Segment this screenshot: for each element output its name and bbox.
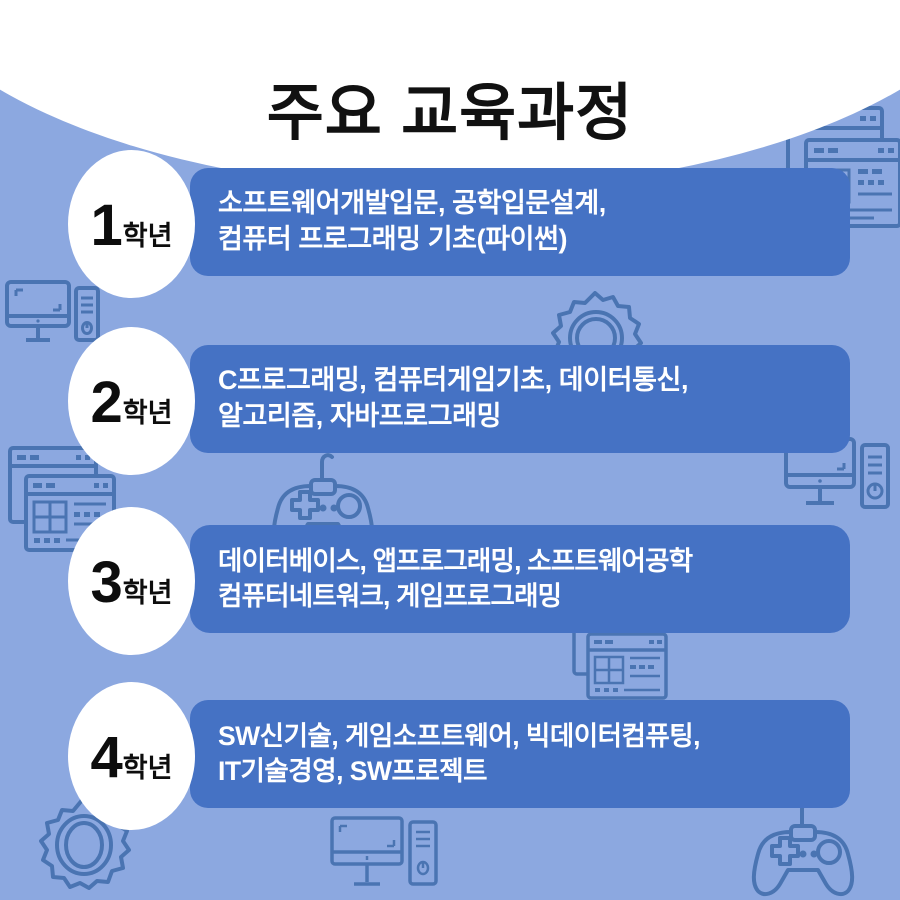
grade-badge-content: 2 학년 [91,374,173,432]
game-controller-icon [748,798,860,900]
course-bar-4[interactable]: SW신기술, 게임소프트웨어, 빅데이터컴퓨팅, IT기술경영, SW프로젝트 [190,700,850,808]
page-title: 주요 교육과정 [0,62,900,152]
course-bar-2[interactable]: C프로그래밍, 컴퓨터게임기초, 데이터통신, 알고리즘, 자바프로그래밍 [190,345,850,453]
grade-badge-1[interactable]: 1 학년 [68,150,195,298]
course-line-2: 컴퓨터 프로그래밍 기초(파이썬) [218,222,850,258]
curriculum-row: 4 학년 SW신기술, 게임소프트웨어, 빅데이터컴퓨팅, IT기술경영, SW… [0,700,900,810]
curriculum-row: 1 학년 소프트웨어개발입문, 공학입문설계, 컴퓨터 프로그래밍 기초(파이썬… [0,168,900,278]
grade-suffix: 학년 [123,755,173,782]
course-line-2: IT기술경영, SW프로젝트 [218,754,850,789]
grade-badge-content: 4 학년 [91,729,173,787]
curriculum-poster: 주요 교육과정 1 학년 소프트웨어개발입문, 공학입문설계, 컴퓨터 프로그래… [0,0,900,900]
course-line-1: SW신기술, 게임소프트웨어, 빅데이터컴퓨팅, [218,719,850,754]
grade-number: 2 [91,374,122,432]
curriculum-row: 3 학년 데이터베이스, 앱프로그래밍, 소프트웨어공학 컴퓨터네트워크, 게임… [0,525,900,635]
grade-badge-4[interactable]: 4 학년 [68,682,195,830]
grade-suffix: 학년 [123,580,173,607]
course-line-2: 알고리즘, 자바프로그래밍 [218,399,850,435]
course-line-2: 컴퓨터네트워크, 게임프로그래밍 [218,579,850,614]
grade-number: 4 [91,729,122,787]
desktop-computer-icon [328,812,444,900]
grade-suffix: 학년 [123,400,173,427]
course-line-1: C프로그래밍, 컴퓨터게임기초, 데이터통신, [218,363,850,399]
grade-badge-content: 3 학년 [91,554,173,612]
grade-badge-3[interactable]: 3 학년 [68,507,195,655]
grade-number: 3 [91,554,122,612]
grade-suffix: 학년 [123,223,173,250]
grade-badge-2[interactable]: 2 학년 [68,327,195,475]
grade-number: 1 [91,197,122,255]
course-bar-1[interactable]: 소프트웨어개발입문, 공학입문설계, 컴퓨터 프로그래밍 기초(파이썬) [190,168,850,276]
course-line-1: 데이터베이스, 앱프로그래밍, 소프트웨어공학 [218,544,850,579]
grade-badge-content: 1 학년 [91,197,173,255]
curriculum-row: 2 학년 C프로그래밍, 컴퓨터게임기초, 데이터통신, 알고리즘, 자바프로그… [0,345,900,455]
course-bar-3[interactable]: 데이터베이스, 앱프로그래밍, 소프트웨어공학 컴퓨터네트워크, 게임프로그래밍 [190,525,850,633]
course-line-1: 소프트웨어개발입문, 공학입문설계, [218,186,850,222]
